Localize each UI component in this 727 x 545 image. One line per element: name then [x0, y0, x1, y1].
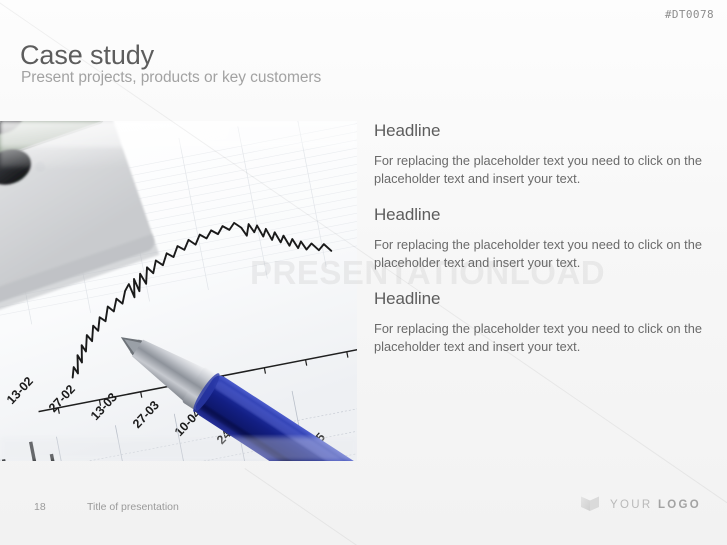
footer-presentation-title: Title of presentation	[87, 501, 179, 513]
block-3-headline: Headline	[374, 289, 714, 309]
cube-icon	[579, 491, 601, 518]
content-block-1: Headline For replacing the placeholder t…	[374, 121, 714, 187]
content-block-2: Headline For replacing the placeholder t…	[374, 205, 714, 271]
logo-text: YOUR LOGO	[610, 499, 701, 511]
block-1-headline: Headline	[374, 121, 714, 141]
footer-page-number: 18	[34, 501, 46, 513]
slide-canvas: #DT0078 Case study Present projects, pro…	[0, 0, 727, 545]
logo-text-prefix: YOUR	[610, 499, 658, 511]
content-column: Headline For replacing the placeholder t…	[374, 121, 714, 355]
block-2-body[interactable]: For replacing the placeholder text you n…	[374, 236, 714, 271]
page-subtitle: Present projects, products or key custom…	[21, 69, 321, 87]
logo-placeholder[interactable]: YOUR LOGO	[579, 491, 701, 518]
document-id: #DT0078	[665, 8, 714, 21]
case-study-photo: 13-02 27-02 13-03 27-03 10-04 24-04 08-0…	[0, 121, 357, 461]
block-3-body[interactable]: For replacing the placeholder text you n…	[374, 320, 714, 355]
page-title: Case study	[20, 40, 154, 71]
content-block-3: Headline For replacing the placeholder t…	[374, 289, 714, 355]
block-2-headline: Headline	[374, 205, 714, 225]
block-1-body[interactable]: For replacing the placeholder text you n…	[374, 152, 714, 187]
photo-illustration: 13-02 27-02 13-03 27-03 10-04 24-04 08-0…	[0, 121, 357, 461]
logo-text-bold: LOGO	[658, 499, 701, 511]
